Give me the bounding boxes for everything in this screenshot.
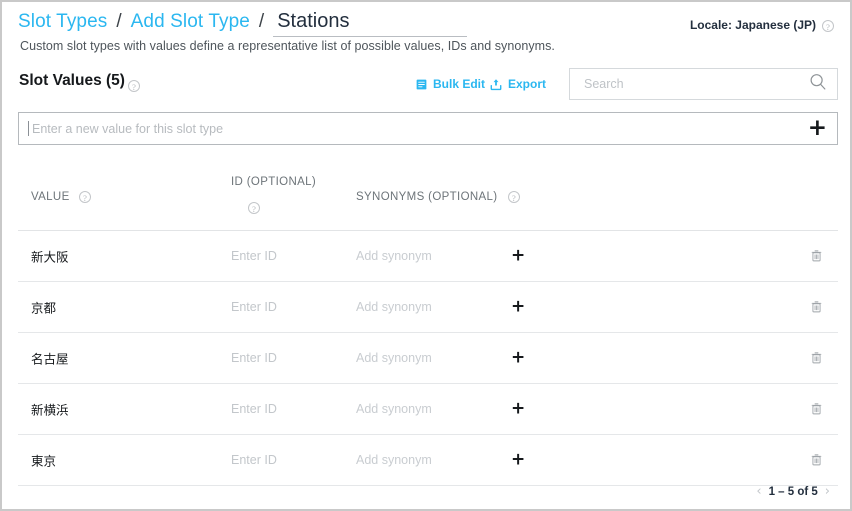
column-header-value: VALUE ? [31, 191, 91, 203]
upload-icon [489, 78, 503, 91]
table-row: 新横浜Enter IDAdd synonym+ [18, 384, 838, 435]
add-slot-value-button[interactable]: + [808, 117, 827, 140]
trash-icon[interactable] [810, 402, 823, 416]
pagination: ‹ 1 – 5 of 5 › [756, 484, 830, 499]
add-synonym-button[interactable]: + [511, 350, 525, 367]
trash-icon[interactable] [810, 300, 823, 314]
slot-synonym-input[interactable]: Add synonym [356, 351, 432, 365]
chevron-right-icon[interactable]: › [825, 484, 830, 499]
chevron-left-icon[interactable]: ‹ [756, 484, 761, 499]
breadcrumb-item-slot-types[interactable]: Slot Types [18, 11, 107, 33]
table-row: 東京Enter IDAdd synonym+ [18, 435, 838, 486]
locale-label: Locale: Japanese (JP) [690, 18, 816, 32]
help-circle-icon-value[interactable]: ? [79, 191, 91, 203]
text-caret [28, 121, 29, 136]
search-input[interactable] [582, 76, 807, 92]
page-subtitle: Custom slot types with values define a r… [20, 39, 555, 53]
slot-value-text: 東京 [31, 451, 56, 470]
table-row: 京都Enter IDAdd synonym+ [18, 282, 838, 333]
slot-id-input[interactable]: Enter ID [231, 249, 277, 263]
breadcrumb-separator-1: / [116, 11, 121, 33]
table-row: 名古屋Enter IDAdd synonym+ [18, 333, 838, 384]
trash-icon[interactable] [810, 249, 823, 263]
help-circle-icon-locale[interactable]: ? [822, 20, 834, 32]
pagination-range-label: 1 – 5 of 5 [769, 486, 818, 498]
help-circle-icon-slot-values[interactable]: ? [128, 80, 140, 92]
table-body: 新大阪Enter IDAdd synonym+京都Enter IDAdd syn… [18, 231, 838, 486]
slot-id-input[interactable]: Enter ID [231, 453, 277, 467]
slot-id-input[interactable]: Enter ID [231, 402, 277, 416]
add-synonym-button[interactable]: + [511, 401, 525, 418]
slot-synonym-input[interactable]: Add synonym [356, 402, 432, 416]
slot-id-input[interactable]: Enter ID [231, 300, 277, 314]
new-slot-value-row[interactable]: + [18, 112, 838, 145]
column-header-synonyms: SYNONYMS (OPTIONAL) ? [356, 191, 520, 203]
slot-value-text: 名古屋 [31, 349, 69, 368]
breadcrumb: Slot Types / Add Slot Type / Stations [18, 10, 467, 37]
slot-type-name-field[interactable]: Stations [273, 10, 467, 37]
table-row: 新大阪Enter IDAdd synonym+ [18, 231, 838, 282]
export-label: Export [508, 77, 546, 91]
breadcrumb-separator-2: / [259, 11, 264, 33]
slot-value-text: 京都 [31, 298, 56, 317]
add-synonym-button[interactable]: + [511, 452, 525, 469]
slot-value-text: 新横浜 [31, 400, 69, 419]
locale-text: Locale: Japanese (JP) [690, 18, 816, 32]
search-icon[interactable] [807, 71, 829, 98]
export-button[interactable]: Export [489, 77, 546, 91]
add-synonym-button[interactable]: + [511, 299, 525, 316]
bulk-edit-button[interactable]: Bulk Edit [415, 77, 485, 91]
bulk-edit-icon [415, 78, 428, 91]
add-synonym-button[interactable]: + [511, 248, 525, 265]
search-box[interactable] [569, 68, 838, 100]
new-slot-value-input[interactable] [30, 121, 802, 137]
column-header-id: ID (OPTIONAL) [231, 176, 316, 188]
bulk-edit-label: Bulk Edit [433, 77, 485, 91]
slot-id-input[interactable]: Enter ID [231, 351, 277, 365]
slot-synonym-input[interactable]: Add synonym [356, 453, 432, 467]
slot-synonym-input[interactable]: Add synonym [356, 300, 432, 314]
column-header-synonyms-label: SYNONYMS (OPTIONAL) [356, 191, 497, 203]
help-circle-icon-id[interactable]: ? [248, 202, 260, 214]
page-title: Slot Values (5) [19, 72, 125, 90]
trash-icon[interactable] [810, 351, 823, 365]
column-header-value-label: VALUE [31, 191, 70, 203]
breadcrumb-item-add-slot-type[interactable]: Add Slot Type [131, 11, 250, 33]
slot-values-table: VALUE ? ID (OPTIONAL) ? SYNONYMS (OPTION… [18, 162, 838, 486]
table-header-row: VALUE ? ID (OPTIONAL) ? SYNONYMS (OPTION… [18, 162, 838, 231]
trash-icon[interactable] [810, 453, 823, 467]
slot-synonym-input[interactable]: Add synonym [356, 249, 432, 263]
slot-value-text: 新大阪 [31, 247, 69, 266]
slot-type-editor-page: Slot Types / Add Slot Type / Stations Cu… [0, 0, 852, 511]
help-circle-icon-synonyms[interactable]: ? [508, 191, 520, 203]
